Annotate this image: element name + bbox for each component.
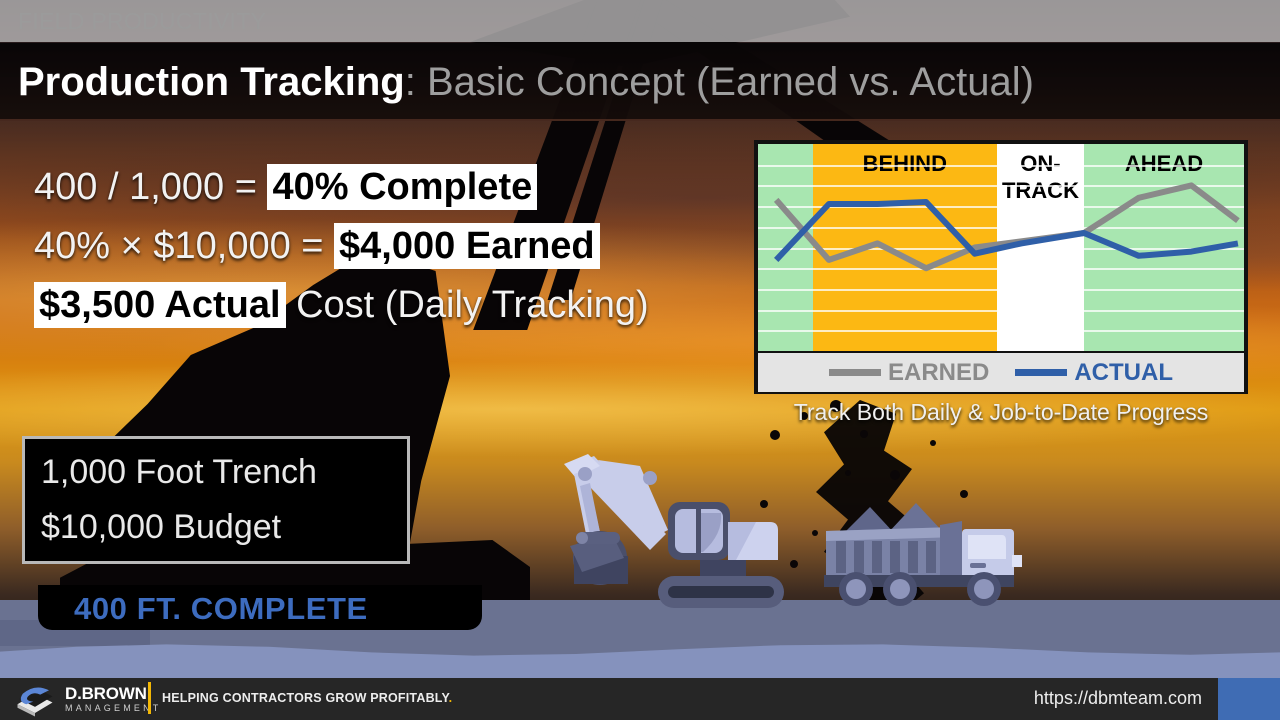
footer-tagline: HELPING CONTRACTORS GROW PROFITABLY. bbox=[162, 691, 452, 705]
equation-2-highlight: $4,000 Earned bbox=[334, 223, 600, 269]
earned-vs-actual-chart: BEHINDON-TRACKAHEAD EARNED ACTUAL bbox=[754, 140, 1248, 394]
progress-banner: 400 FT. COMPLETE bbox=[38, 585, 482, 630]
excavator-illustration bbox=[540, 438, 810, 618]
eyebrow-strip: FIELD PRODUCTIVITY bbox=[0, 0, 1280, 42]
chart-series-layer bbox=[758, 144, 1244, 351]
legend-item-earned: EARNED bbox=[829, 359, 989, 387]
equation-row-1: 400 / 1,000 = 40% Complete bbox=[34, 158, 649, 217]
brand-logo: D.BROWN MANAGEMENT bbox=[14, 681, 162, 717]
page-title-rest: : Basic Concept (Earned vs. Actual) bbox=[405, 60, 1034, 104]
footer-tagline-text: HELPING CONTRACTORS GROW PROFITABLY bbox=[162, 691, 449, 705]
legend-label-earned: EARNED bbox=[888, 359, 989, 387]
equation-list: 400 / 1,000 = 40% Complete 40% × $10,000… bbox=[34, 158, 649, 335]
footer-tagline-dot: . bbox=[449, 691, 453, 705]
equation-2-prefix: 40% × $10,000 = bbox=[34, 225, 334, 267]
dirt-speck bbox=[845, 470, 851, 476]
equation-1-prefix: 400 / 1,000 = bbox=[34, 166, 267, 208]
legend-swatch-actual bbox=[1015, 369, 1067, 376]
dirt-speck bbox=[890, 470, 900, 480]
legend-label-actual: ACTUAL bbox=[1074, 359, 1173, 387]
footer-accent-block bbox=[1218, 678, 1280, 720]
dirt-speck bbox=[860, 430, 868, 438]
footer-divider bbox=[148, 682, 151, 714]
footer-url[interactable]: https://dbmteam.com bbox=[1034, 688, 1202, 709]
chart-caption: Track Both Daily & Job-to-Date Progress bbox=[754, 399, 1248, 426]
trench-budget-label: $10,000 Budget bbox=[25, 500, 407, 555]
dbrown-logo-icon bbox=[14, 681, 56, 717]
trench-length-label: 1,000 Foot Trench bbox=[25, 439, 407, 500]
page-title: Production Tracking: Basic Concept (Earn… bbox=[18, 52, 1034, 112]
trench-info-box: 1,000 Foot Trench $10,000 Budget bbox=[22, 436, 410, 564]
equation-row-2: 40% × $10,000 = $4,000 Earned bbox=[34, 217, 649, 276]
eyebrow-label: FIELD PRODUCTIVITY bbox=[18, 8, 266, 35]
legend-swatch-earned bbox=[829, 369, 881, 376]
slide-root: FIELD PRODUCTIVITY Production Tracking: … bbox=[0, 0, 1280, 720]
chart-legend: EARNED ACTUAL bbox=[758, 351, 1244, 392]
equation-1-highlight: 40% Complete bbox=[267, 164, 537, 210]
progress-banner-label: 400 FT. COMPLETE bbox=[74, 591, 368, 627]
legend-item-actual: ACTUAL bbox=[1015, 359, 1173, 387]
equation-3-highlight: $3,500 Actual bbox=[34, 282, 286, 328]
dump-truck-illustration bbox=[812, 497, 1026, 610]
page-title-bold: Production Tracking bbox=[18, 60, 405, 104]
equation-row-3: $3,500 Actual Cost (Daily Tracking) bbox=[34, 276, 649, 335]
dirt-speck bbox=[930, 440, 936, 446]
equation-3-suffix: Cost (Daily Tracking) bbox=[286, 284, 649, 326]
chart-plot-area: BEHINDON-TRACKAHEAD bbox=[758, 144, 1244, 351]
